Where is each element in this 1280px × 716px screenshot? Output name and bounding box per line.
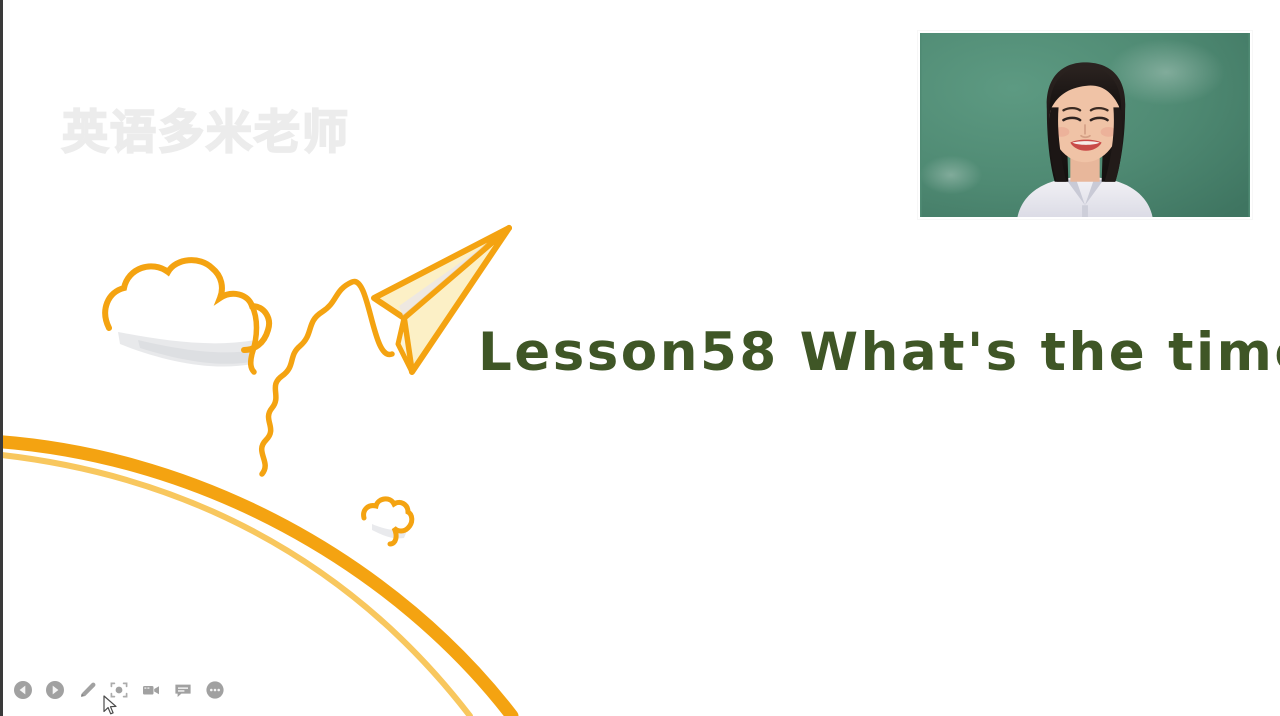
teacher-webcam-overlay[interactable] — [918, 31, 1252, 219]
frame-left-edge — [0, 0, 3, 716]
shirt-placket — [1082, 205, 1088, 217]
pencil-icon[interactable] — [76, 679, 98, 701]
comment-icon[interactable] — [172, 679, 194, 701]
chalkboard-glare-2 — [1108, 39, 1225, 106]
video-icon[interactable] — [140, 679, 162, 701]
play-icon[interactable] — [44, 679, 66, 701]
player-toolbar — [12, 677, 226, 703]
previous-icon[interactable] — [12, 679, 34, 701]
more-icon[interactable] — [204, 679, 226, 701]
presentation-stage: 英语多米老师 Lesson58 What's the time — [0, 0, 1280, 716]
screenshot-icon[interactable] — [108, 679, 130, 701]
webcam-video-frame — [920, 33, 1250, 217]
page-title: Lesson58 What's the time — [478, 322, 1280, 383]
cloud-small-outline — [364, 499, 412, 544]
channel-watermark: 英语多米老师 — [62, 96, 350, 162]
chalkboard-glare — [920, 155, 982, 194]
cloud-large-outline-tail — [251, 306, 257, 372]
wavy-flight-trail-path — [262, 281, 392, 474]
